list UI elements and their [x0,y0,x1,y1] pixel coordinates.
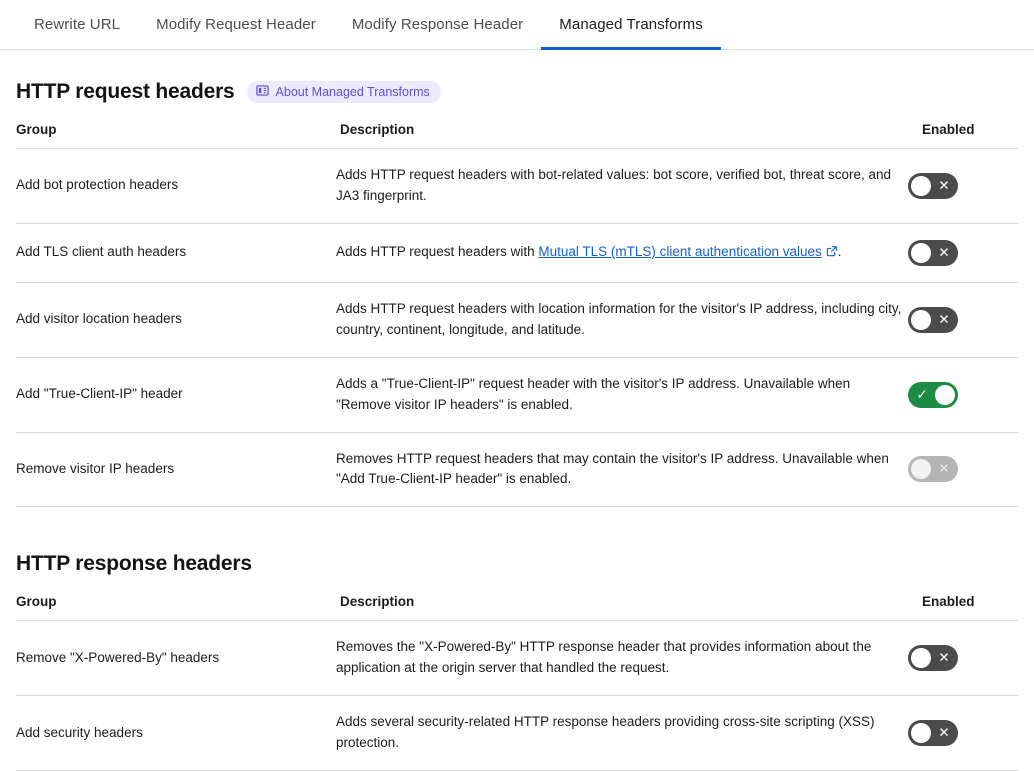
tab-label: Managed Transforms [559,16,703,33]
row-group-name: Add bot protection headers [16,149,336,224]
row-description: Adds several security-related HTTP respo… [336,696,908,771]
toggle-add-true-client-ip-header[interactable]: ✓ [908,382,958,408]
section-http-request-headers: HTTP request headers About Managed Trans… [16,80,1018,507]
toggle-mark-icon: ✕ [938,720,950,746]
description-text-after: . [838,244,842,259]
row-enabled-cell: ✕ [908,696,1018,771]
toggle-add-tls-client-auth-headers[interactable]: ✕ [908,240,958,266]
page-content: HTTP request headers About Managed Trans… [0,80,1034,771]
row-group-name: Add security headers [16,696,336,771]
toggle-remove-x-powered-by-headers[interactable]: ✕ [908,645,958,671]
tab-modify-request-header[interactable]: Modify Request Header [138,0,334,49]
section-header: HTTP request headers About Managed Trans… [16,80,1018,104]
toggle-knob [911,243,931,263]
table-row: Remove visitor IP headers Removes HTTP r… [16,432,1018,507]
column-header-description: Description [336,594,908,621]
tab-managed-transforms[interactable]: Managed Transforms [541,0,721,49]
row-enabled-cell: ✕ [908,223,1018,282]
row-description: Removes HTTP request headers that may co… [336,432,908,507]
toggle-knob [911,176,931,196]
toggle-knob [935,385,955,405]
table-body: Add bot protection headers Adds HTTP req… [16,149,1018,507]
table-row: Add visitor location headers Adds HTTP r… [16,282,1018,357]
table-row: Add security headers Adds several securi… [16,696,1018,771]
table-head: Group Description Enabled [16,594,1018,621]
toggle-mark-icon: ✕ [938,307,950,333]
column-header-enabled: Enabled [908,122,1018,149]
row-enabled-cell: ✕ [908,282,1018,357]
row-description: Adds a "True-Client-IP" request header w… [336,357,908,432]
toggle-knob [911,723,931,743]
tab-label: Modify Response Header [352,16,523,33]
tab-bar: Rewrite URL Modify Request Header Modify… [0,0,1034,50]
toggle-mark-icon: ✕ [938,645,950,671]
row-enabled-cell: ✕ [908,621,1018,696]
page-title: HTTP request headers [16,80,235,104]
toggle-knob [911,648,931,668]
toggle-mark-icon: ✓ [916,382,928,408]
about-managed-transforms-badge[interactable]: About Managed Transforms [247,81,441,103]
toggle-add-security-headers[interactable]: ✕ [908,720,958,746]
toggle-add-bot-protection-headers[interactable]: ✕ [908,173,958,199]
tab-modify-response-header[interactable]: Modify Response Header [334,0,541,49]
toggle-mark-icon: ✕ [938,456,950,482]
toggle-mark-icon: ✕ [938,240,950,266]
column-header-description: Description [336,122,908,149]
toggle-add-visitor-location-headers[interactable]: ✕ [908,307,958,333]
row-group-name: Add "True-Client-IP" header [16,357,336,432]
tab-label: Modify Request Header [156,16,316,33]
tab-rewrite-url[interactable]: Rewrite URL [16,0,138,49]
about-badge-label: About Managed Transforms [276,85,430,99]
toggle-knob [911,459,931,479]
table-row: Remove "X-Powered-By" headers Removes th… [16,621,1018,696]
mutual-tls-link[interactable]: Mutual TLS (mTLS) client authentication … [538,244,821,259]
row-enabled-cell: ✕ [908,432,1018,507]
table-body: Remove "X-Powered-By" headers Removes th… [16,621,1018,771]
table-row: Add bot protection headers Adds HTTP req… [16,149,1018,224]
section-title-response: HTTP response headers [16,552,252,576]
table-row: Add TLS client auth headers Adds HTTP re… [16,223,1018,282]
row-description: Removes the "X-Powered-By" HTTP response… [336,621,908,696]
tab-label: Rewrite URL [34,16,120,33]
row-enabled-cell: ✕ [908,149,1018,224]
column-header-enabled: Enabled [908,594,1018,621]
request-headers-table: Group Description Enabled Add bot protec… [16,122,1018,507]
row-description: Adds HTTP request headers with Mutual TL… [336,223,908,282]
table-header-row: Group Description Enabled [16,122,1018,149]
toggle-knob [911,310,931,330]
table-header-row: Group Description Enabled [16,594,1018,621]
table-row: Add "True-Client-IP" header Adds a "True… [16,357,1018,432]
table-head: Group Description Enabled [16,122,1018,149]
description-text-before: Adds HTTP request headers with [336,244,538,259]
row-description: Adds HTTP request headers with bot-relat… [336,149,908,224]
section-header: HTTP response headers [16,552,1018,576]
toggle-mark-icon: ✕ [938,173,950,199]
row-group-name: Remove visitor IP headers [16,432,336,507]
section-http-response-headers: HTTP response headers Group Description … [16,552,1018,771]
row-enabled-cell: ✓ [908,357,1018,432]
row-group-name: Remove "X-Powered-By" headers [16,621,336,696]
toggle-remove-visitor-ip-headers: ✕ [908,456,958,482]
row-description: Adds HTTP request headers with location … [336,282,908,357]
row-group-name: Add visitor location headers [16,282,336,357]
response-headers-table: Group Description Enabled Remove "X-Powe… [16,594,1018,771]
row-group-name: Add TLS client auth headers [16,223,336,282]
column-header-group: Group [16,594,336,621]
external-link-icon [826,243,838,264]
book-icon [256,84,269,100]
column-header-group: Group [16,122,336,149]
